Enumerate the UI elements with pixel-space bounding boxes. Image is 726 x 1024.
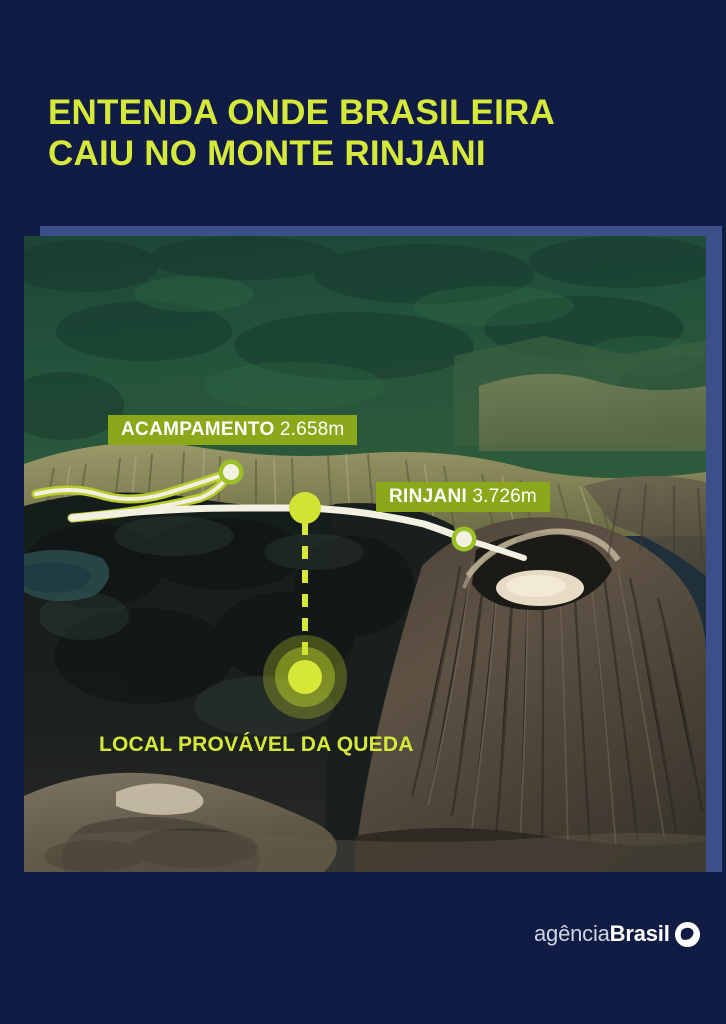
page-title: ENTENDA ONDE BRASILEIRA CAIU NO MONTE RI…	[48, 92, 668, 174]
logo-wordmark: agênciaBrasil	[534, 923, 670, 945]
fall-location-caption: LOCAL PROVÁVEL DA QUEDA	[99, 733, 414, 757]
title-line-1: ENTENDA ONDE BRASILEIRA	[48, 92, 668, 133]
label-rinjani-altitude: 3.726m	[472, 486, 537, 507]
label-rinjani-name: RINJANI	[389, 486, 467, 507]
logo-word-agencia: agência	[534, 921, 610, 946]
label-rinjani: RINJANI 3.726m	[376, 482, 550, 512]
label-acampamento: ACAMPAMENTO 2.658m	[108, 415, 357, 445]
infographic-page: ENTENDA ONDE BRASILEIRA CAIU NO MONTE RI…	[0, 0, 726, 1024]
globe-icon	[674, 921, 701, 948]
label-acampamento-name: ACAMPAMENTO	[121, 419, 275, 440]
logo-word-brasil: Brasil	[610, 921, 670, 946]
label-acampamento-altitude: 2.658m	[280, 419, 345, 440]
satellite-photo	[24, 236, 706, 872]
title-line-2: CAIU NO MONTE RINJANI	[48, 133, 668, 174]
agencia-brasil-logo: agênciaBrasil	[534, 918, 701, 950]
